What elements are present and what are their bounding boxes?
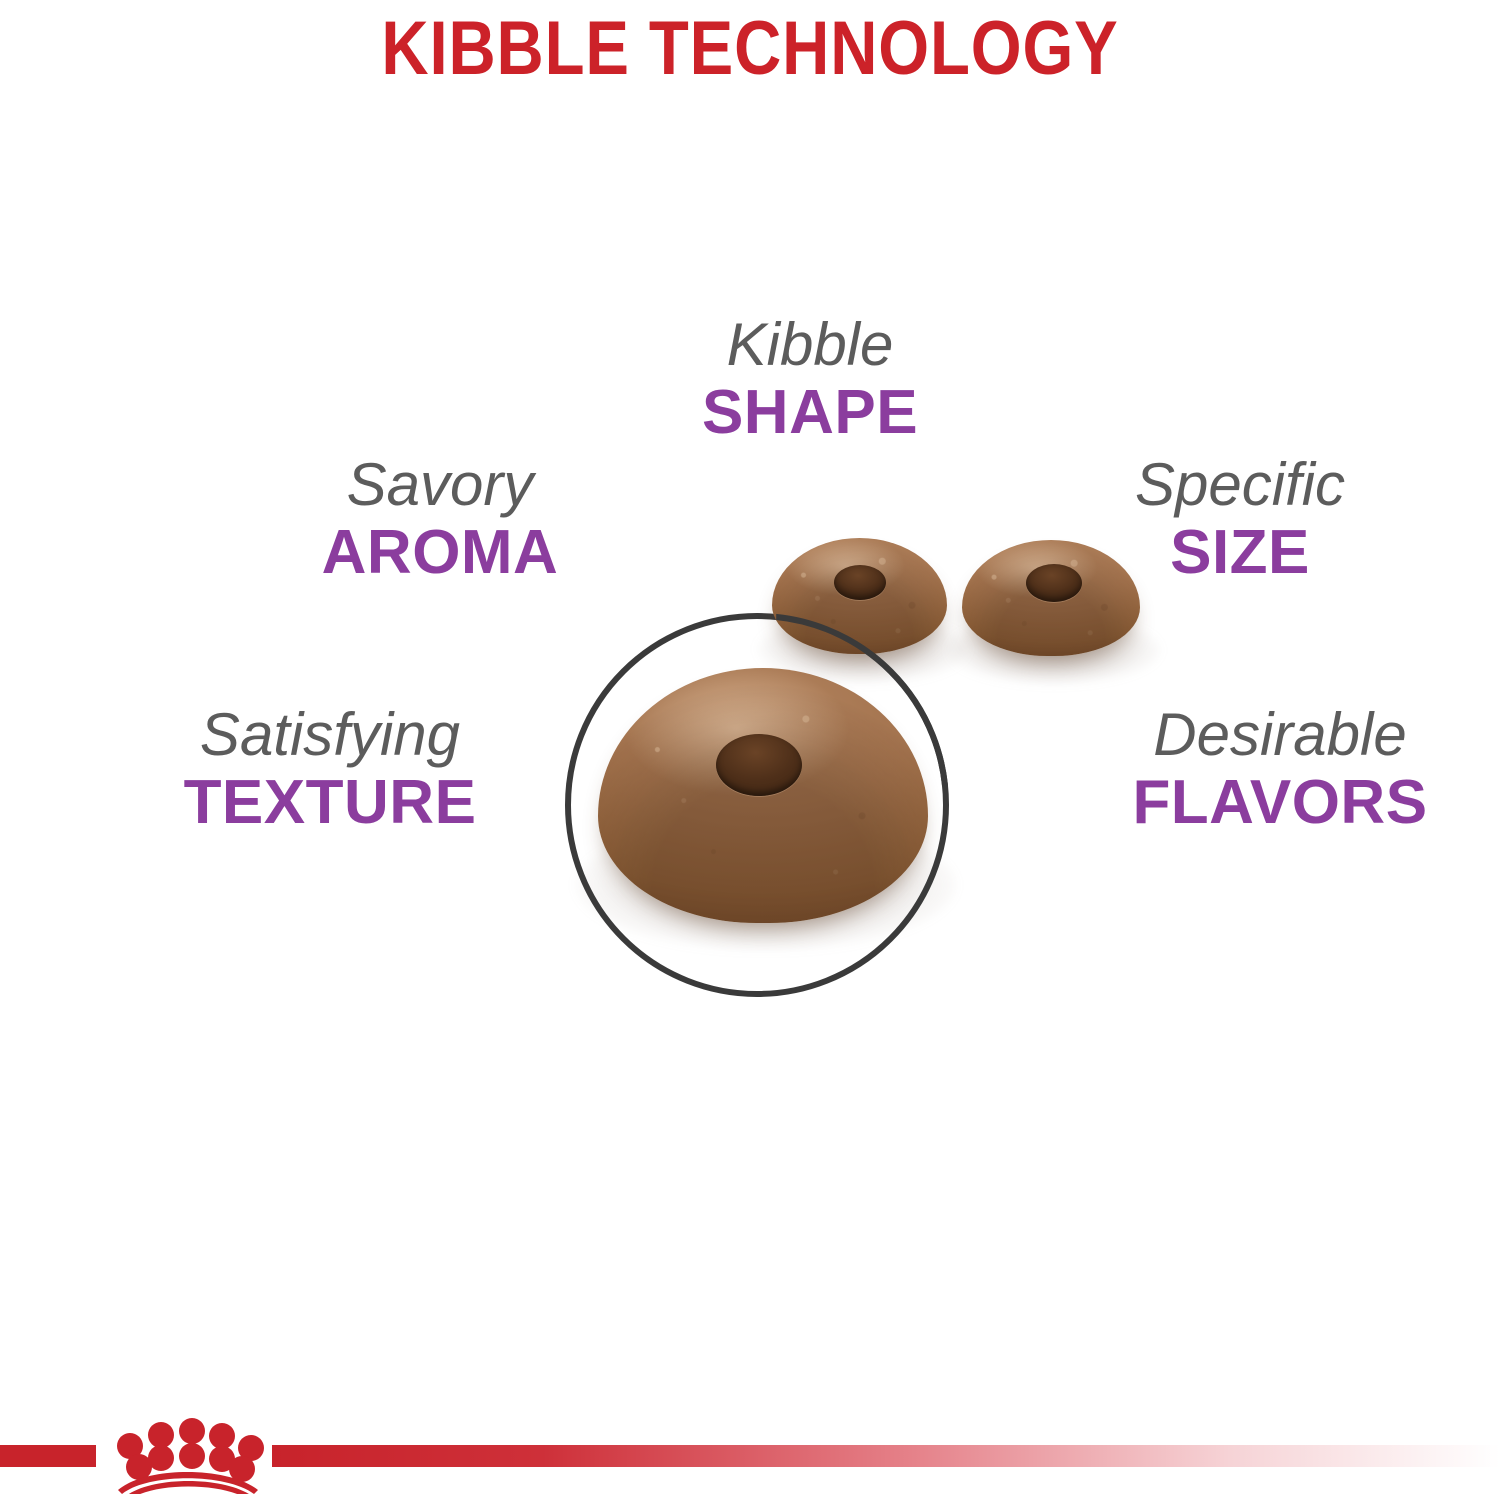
kibble-technology-infographic: KIBBLE TECHNOLOGY Kibble SHAPE Savory AR…	[0, 0, 1500, 1500]
feature-emph-shape: SHAPE	[600, 378, 1020, 448]
kibble-small-right	[962, 540, 1140, 656]
feature-satisfying-texture: Satisfying TEXTURE	[120, 702, 540, 838]
kibble-hole	[1026, 564, 1082, 602]
kibble-illustration	[520, 520, 1140, 1040]
page-title: KIBBLE TECHNOLOGY	[105, 4, 1395, 94]
footer-rule-left	[0, 1445, 96, 1467]
feature-lead-aroma: Savory	[230, 452, 650, 518]
feature-lead-size: Specific	[1050, 452, 1430, 518]
feature-lead-shape: Kibble	[600, 312, 1020, 378]
footer-rule-right	[272, 1445, 1500, 1467]
kibble-hole	[834, 565, 886, 600]
footer-brand-strip	[0, 1408, 1500, 1500]
feature-lead-texture: Satisfying	[120, 702, 540, 768]
royal-canin-crown-logo	[108, 1416, 266, 1494]
feature-kibble-shape: Kibble SHAPE	[600, 312, 1020, 448]
feature-emph-texture: TEXTURE	[120, 768, 540, 838]
